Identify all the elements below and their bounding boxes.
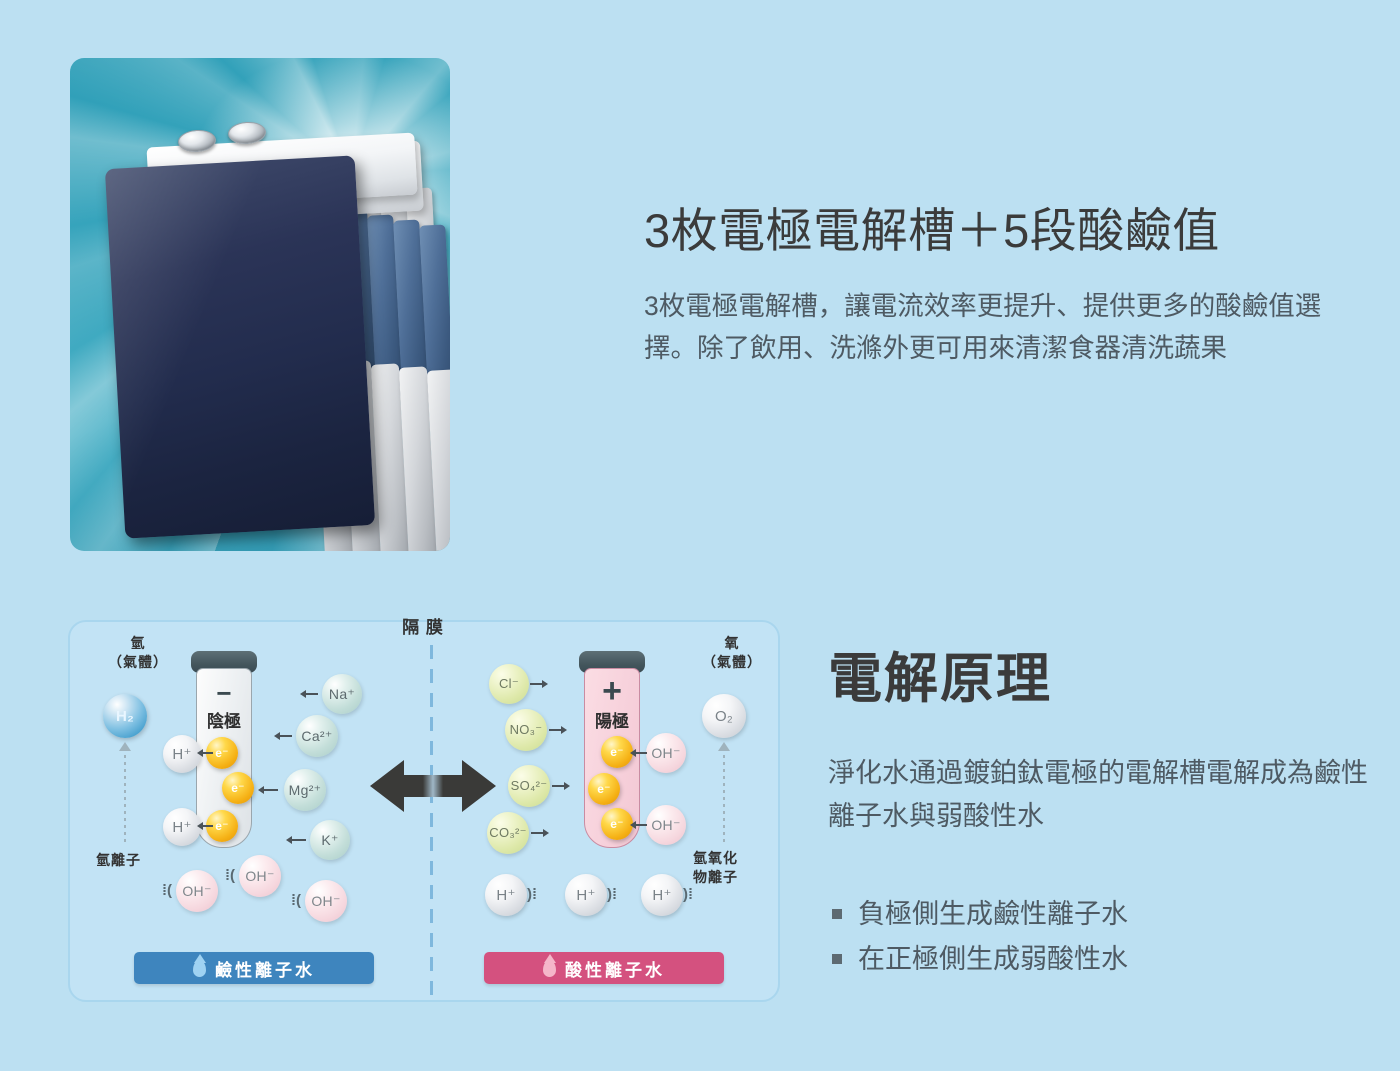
cation-bubble: K⁺ bbox=[310, 820, 350, 860]
cathode-label: 陰極 bbox=[196, 707, 252, 732]
cation-flow-arrow-icon bbox=[258, 785, 278, 795]
proton-bubble: H⁺ bbox=[641, 874, 683, 916]
electron-bubble: e⁻ bbox=[601, 736, 633, 768]
anion-flow-arrow-icon bbox=[530, 679, 548, 689]
anion-bubble: SO₄²⁻ bbox=[508, 765, 550, 807]
cation-flow-arrow-icon bbox=[300, 689, 318, 699]
product-photo bbox=[70, 58, 450, 551]
acidic-water-label: 酸性離子水 bbox=[565, 956, 665, 981]
proton-bubble: H⁺ bbox=[163, 808, 201, 846]
anion-bubble: CO₃²⁻ bbox=[487, 812, 529, 854]
proton-bubble: H⁺ bbox=[565, 874, 607, 916]
alkaline-water-badge: 鹼性離子水 bbox=[134, 952, 374, 984]
cation-flow-arrow-icon bbox=[286, 835, 306, 845]
ion-exchange-double-arrow-icon bbox=[370, 756, 496, 816]
hydroxide-transfer-arrow-icon bbox=[630, 748, 647, 758]
hydroxide-bubble: OH⁻ bbox=[176, 870, 218, 912]
anion-bubble: NO₃⁻ bbox=[505, 709, 547, 751]
cathode-gas-label-2: （氣體） bbox=[92, 653, 184, 672]
hydroxide-wave-icon: ⁞( bbox=[162, 882, 172, 899]
principle-description: 淨化水通過鍍鉑鈦電極的電解槽電解成為鹼性離子水與弱酸性水 bbox=[828, 752, 1368, 838]
proton-bubble: H⁺ bbox=[163, 735, 201, 773]
list-item-label: 負極側生成鹼性離子水 bbox=[858, 895, 1128, 934]
hydroxide-bubble: OH⁻ bbox=[305, 880, 347, 922]
cation-bubble: Ca²⁺ bbox=[296, 715, 338, 757]
membrane-label: 隔 膜 bbox=[378, 617, 468, 638]
product-description: 3枚電極電解槽，讓電流效率更提升、提供更多的酸鹼值選擇。除了飲用、洗滌外更可用來… bbox=[644, 286, 1344, 370]
anode-gas-label-2: （氣體） bbox=[686, 653, 778, 672]
anion-flow-arrow-icon bbox=[552, 781, 570, 791]
anion-bubble: Cl⁻ bbox=[489, 664, 529, 704]
bullet-square-icon bbox=[832, 909, 842, 919]
hydroxide-transfer-arrow-icon bbox=[630, 820, 647, 830]
oxygen-rise-arrowhead-icon bbox=[718, 742, 730, 751]
water-drop-icon bbox=[543, 960, 556, 977]
cathode-gas-label-1: 氫 bbox=[92, 634, 184, 653]
bullet-square-icon bbox=[832, 954, 842, 964]
proton-wave-icon: )⁞ bbox=[607, 886, 617, 903]
principle-title: 電解原理 bbox=[828, 650, 1348, 709]
hydroxide-bubble: OH⁻ bbox=[239, 855, 281, 897]
cathode-ion-caption: 氫離子 bbox=[96, 851, 141, 870]
proton-wave-icon: )⁞ bbox=[527, 886, 537, 903]
plus-sign-icon: + bbox=[584, 676, 640, 706]
hydroxide-bubble: OH⁻ bbox=[646, 733, 686, 773]
hydrogen-rise-arrowhead-icon bbox=[119, 742, 131, 751]
cation-flow-arrow-icon bbox=[274, 731, 292, 741]
proton-wave-icon: )⁞ bbox=[683, 886, 693, 903]
hydrogen-gas-bubble: H₂ bbox=[103, 694, 147, 738]
hydroxide-wave-icon: ⁞( bbox=[291, 892, 301, 909]
proton-bubble: H⁺ bbox=[485, 874, 527, 916]
anode-ion-caption-2: 物離子 bbox=[693, 868, 738, 887]
electron-transfer-arrow-icon bbox=[197, 821, 213, 831]
oxygen-gas-bubble: O₂ bbox=[702, 694, 746, 738]
electron-bubble: e⁻ bbox=[601, 808, 633, 840]
principle-bullet-list: 負極側生成鹼性離子水 在正極側生成弱酸性水 bbox=[832, 895, 1372, 985]
hydroxide-bubble: OH⁻ bbox=[646, 805, 686, 845]
list-item: 負極側生成鹼性離子水 bbox=[832, 895, 1372, 934]
anode-ion-caption: 氫氧化 物離子 bbox=[693, 849, 738, 887]
anion-flow-arrow-icon bbox=[531, 828, 549, 838]
hydrogen-rise-dotted-line bbox=[124, 748, 126, 844]
electrode-plate-dark bbox=[105, 155, 375, 538]
page-title: 3枚電極電解槽＋5段酸鹼值 bbox=[644, 203, 1344, 258]
membrane-dashed-line bbox=[430, 645, 433, 1000]
cation-bubble: Mg²⁺ bbox=[284, 769, 326, 811]
cathode-gas-caption: 氫 （氣體） bbox=[92, 634, 184, 672]
list-item-label: 在正極側生成弱酸性水 bbox=[858, 940, 1128, 979]
electron-bubble: e⁻ bbox=[588, 773, 620, 805]
acidic-water-badge: 酸性離子水 bbox=[484, 952, 724, 984]
minus-sign-icon: − bbox=[196, 684, 252, 702]
electron-transfer-arrow-icon bbox=[197, 748, 213, 758]
anion-flow-arrow-icon bbox=[549, 725, 567, 735]
water-drop-icon bbox=[193, 960, 206, 977]
anode-gas-caption: 氧 （氣體） bbox=[686, 634, 778, 672]
anode-label: 陽極 bbox=[584, 707, 640, 732]
list-item: 在正極側生成弱酸性水 bbox=[832, 940, 1372, 979]
cation-bubble: Na⁺ bbox=[322, 674, 362, 714]
anode-gas-label-1: 氧 bbox=[686, 634, 778, 653]
hydroxide-wave-icon: ⁞( bbox=[225, 867, 235, 884]
electron-bubble: e⁻ bbox=[222, 772, 254, 804]
oxygen-rise-dotted-line bbox=[723, 748, 725, 844]
alkaline-water-label: 鹼性離子水 bbox=[215, 956, 315, 981]
anode-ion-caption-1: 氫氧化 bbox=[693, 849, 738, 868]
